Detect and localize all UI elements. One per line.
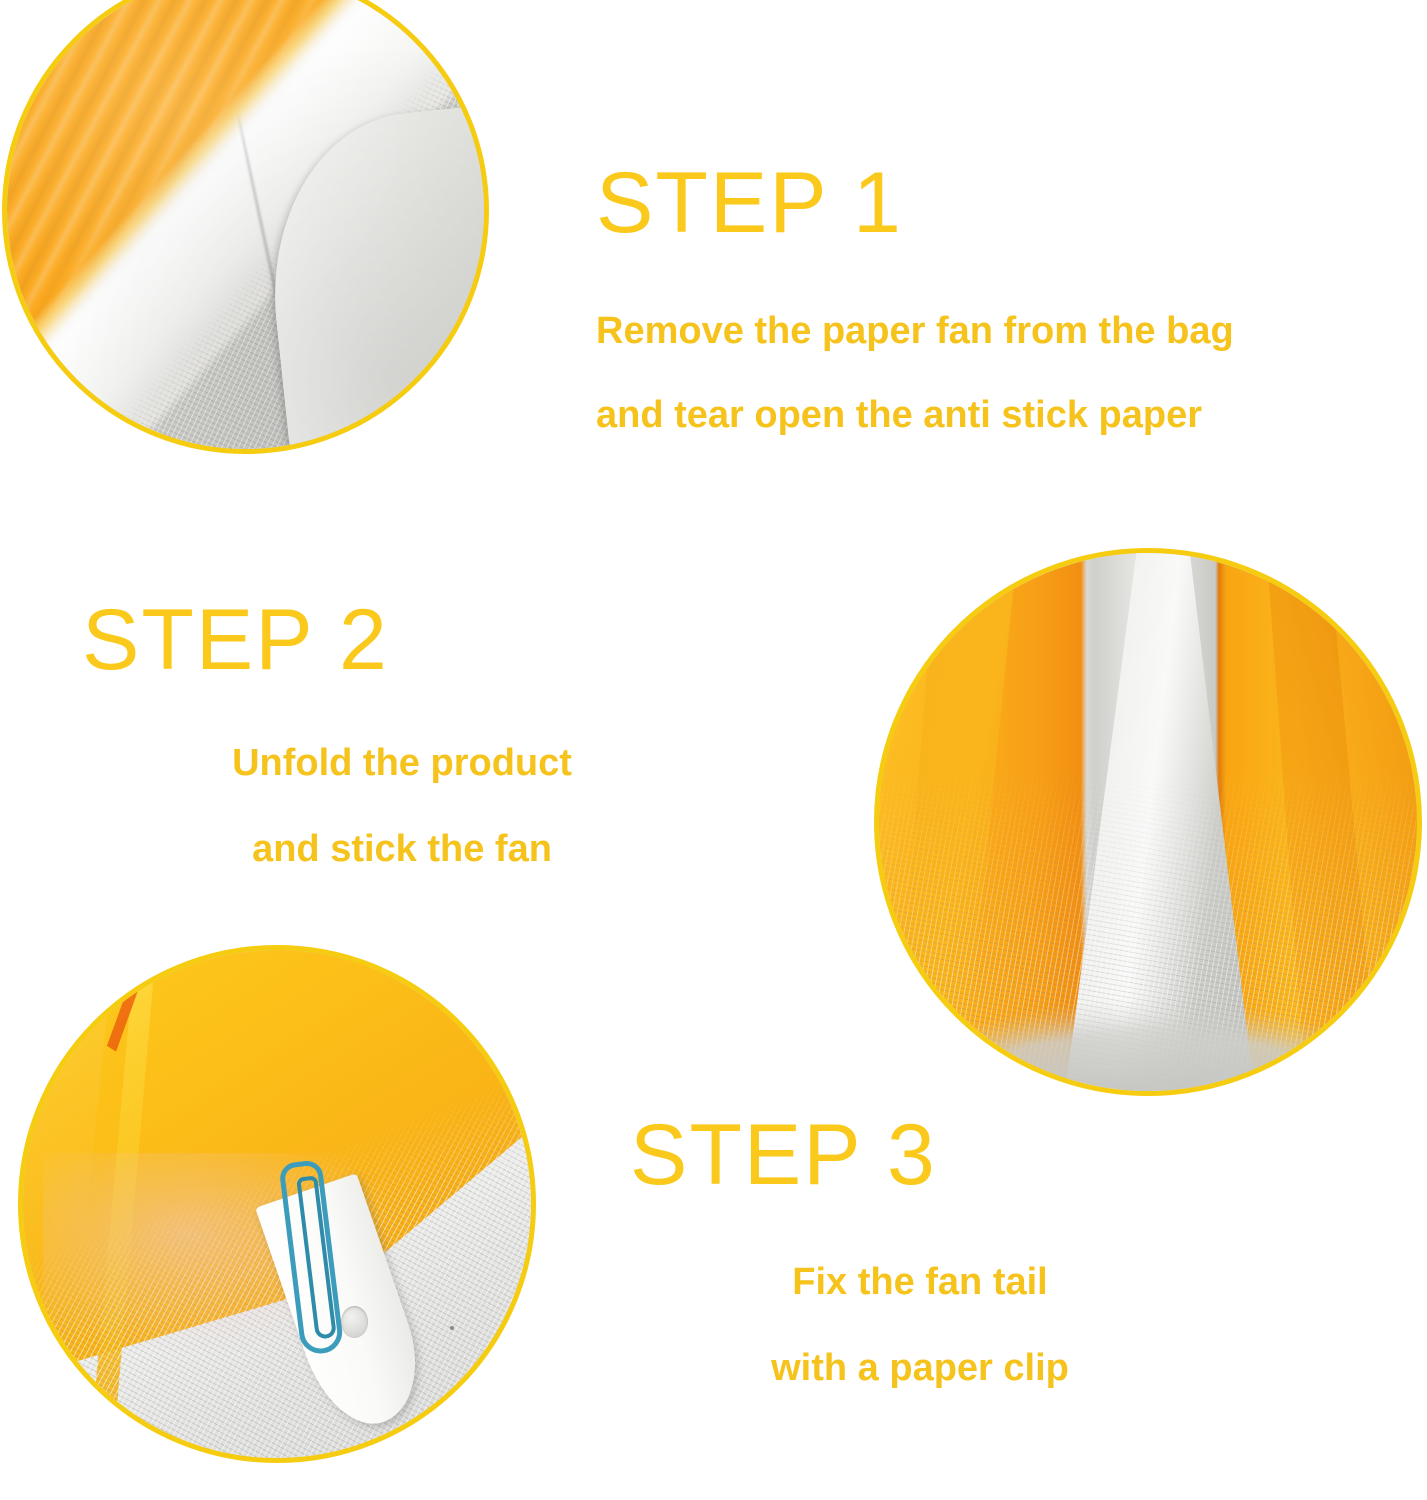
- step-3-line-1: Fix the fan tail: [630, 1262, 1210, 1304]
- step-1-title: STEP 1: [596, 160, 1234, 246]
- step-3-photo-inner: [23, 950, 531, 1458]
- photo-shading-overlay: [7, 0, 484, 449]
- fan-tail-hole: [341, 1306, 368, 1339]
- step-2-line-1: Unfold the product: [82, 743, 722, 785]
- step-2-line-2: and stick the fan: [82, 829, 722, 871]
- step-1-line-2: and tear open the anti stick paper: [596, 395, 1234, 437]
- surface-speck: [450, 1326, 454, 1330]
- step-1-photo-circle: [2, 0, 489, 454]
- product-instruction-infographic: STEP 1 Remove the paper fan from the bag…: [0, 0, 1427, 1500]
- step-1-description: Remove the paper fan from the bag and te…: [596, 311, 1234, 437]
- step-3-description: Fix the fan tail with a paper clip: [630, 1262, 1210, 1390]
- step-3-photo-circle: [18, 945, 536, 1463]
- fan-bottom-grey-sheet: [879, 973, 1417, 1091]
- step-1-photo-inner: [7, 0, 484, 449]
- step-2-title: STEP 2: [82, 597, 722, 683]
- step-1-line-1: Remove the paper fan from the bag: [596, 311, 1234, 353]
- step-3-line-2: with a paper clip: [630, 1348, 1210, 1390]
- step-2-text-block: STEP 2 Unfold the product and stick the …: [82, 597, 722, 871]
- step-2-photo-inner: [879, 553, 1417, 1091]
- step-2-description: Unfold the product and stick the fan: [82, 743, 722, 871]
- step-2-photo-circle: [874, 548, 1422, 1096]
- step-3-title: STEP 3: [630, 1112, 1210, 1198]
- step-3-text-block: STEP 3 Fix the fan tail with a paper cli…: [630, 1112, 1210, 1390]
- step-1-text-block: STEP 1 Remove the paper fan from the bag…: [596, 160, 1234, 437]
